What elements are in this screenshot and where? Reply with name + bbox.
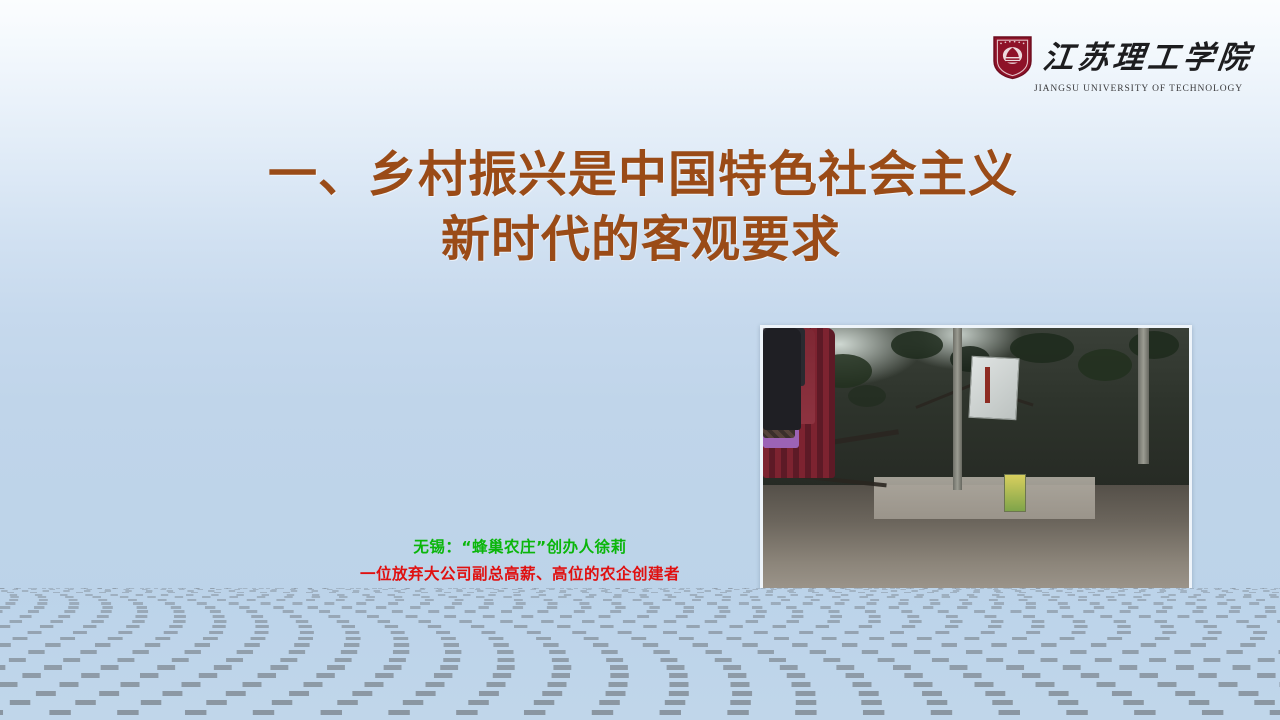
floor-row [0,637,1280,641]
presentation-slide: 江苏理工学院 JIANGSU UNIVERSITY OF TECHNOLOGY … [0,0,1280,720]
floor-row [0,658,1280,662]
floor-row [0,615,1280,618]
floor-row [0,620,1280,623]
floor-row [0,691,1280,696]
floor-row [0,700,1280,705]
slide-photo [760,325,1192,592]
slide-title: 一、乡村振兴是中国特色社会主义 新时代的客观要求 [0,142,1280,272]
floor-row [0,682,1280,687]
university-crest-icon [992,34,1033,80]
university-name-cn: 江苏理工学院 [1041,42,1255,73]
university-logo: 江苏理工学院 JIANGSU UNIVERSITY OF TECHNOLOGY [992,34,1214,98]
floor-row [0,610,1280,613]
perspective-floor-pattern [0,588,1280,720]
photo-wall [874,477,1096,519]
floor-row [0,665,1280,669]
floor-row [0,602,1280,604]
floor-row [0,625,1280,628]
photo-caption-line-2: 一位放弃大公司副总高薪、高位的农企创建者 [300,563,740,586]
floor-row [0,710,1280,715]
floor-row [0,596,1280,598]
photo-utility-pole [953,328,962,490]
logo-primary-row: 江苏理工学院 [992,34,1253,80]
floor-row [0,650,1280,654]
photo-caption: 无锡：“蜂巢农庄”创办人徐莉 一位放弃大公司副总高薪、高位的农企创建者 [300,536,740,587]
floor-row [0,673,1280,678]
floor-row [0,606,1280,609]
photo-signboard [968,355,1019,419]
university-name-en: JIANGSU UNIVERSITY OF TECHNOLOGY [1034,84,1243,94]
slide-title-line-2: 新时代的客观要求 [0,207,1280,272]
floor-row [0,643,1280,647]
photo-caption-line-1: 无锡：“蜂巢农庄”创办人徐莉 [300,536,740,559]
floor-row [0,599,1280,601]
photo-scene [763,328,1189,589]
slide-title-line-1: 一、乡村振兴是中国特色社会主义 [0,142,1280,207]
floor-row [0,631,1280,634]
